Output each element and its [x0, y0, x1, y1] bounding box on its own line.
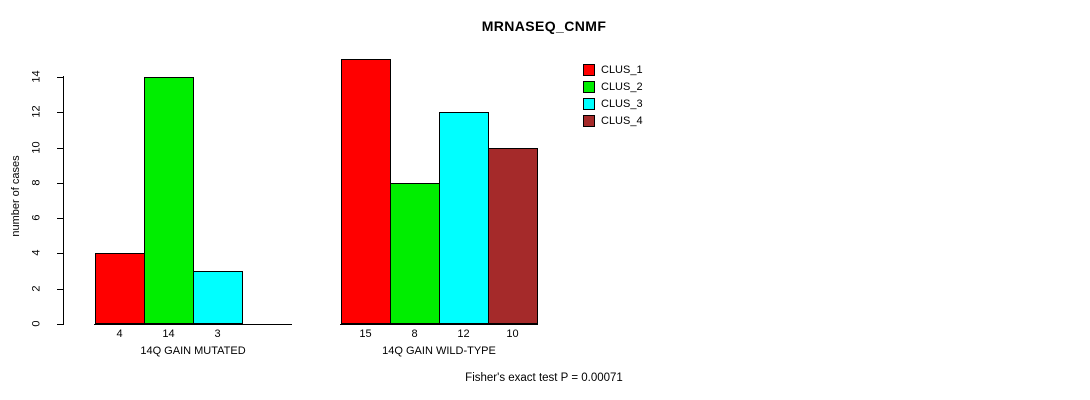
y-axis-tick-label: 8: [32, 165, 43, 199]
legend-color-swatch: [583, 98, 595, 110]
legend-item-label: CLUS_1: [601, 64, 643, 76]
legend-item[interactable]: CLUS_2: [583, 79, 643, 94]
legend-color-swatch: [583, 115, 595, 127]
statistical-test-annotation: Fisher's exact test P = 0.00071: [0, 371, 1090, 385]
legend-item[interactable]: CLUS_3: [583, 96, 643, 111]
y-axis-tick-label: 4: [32, 236, 43, 270]
legend-color-swatch: [583, 64, 595, 76]
legend-item-label: CLUS_3: [601, 98, 643, 110]
bar[interactable]: [439, 112, 489, 324]
chart-title: MRNASEQ_CNMF: [0, 18, 1090, 34]
bar-value-label: 12: [439, 328, 488, 340]
x-axis-baseline: [94, 324, 292, 325]
bar-value-label: 3: [193, 328, 242, 340]
y-axis-tick-mark: [57, 324, 63, 325]
x-axis-group-label: 14Q GAIN WILD-TYPE: [301, 345, 577, 358]
y-axis-tick-mark: [57, 112, 63, 113]
bar[interactable]: [193, 271, 243, 324]
legend-color-swatch: [583, 81, 595, 93]
barplot-figure: MRNASEQ_CNMF 02468101214 number of cases…: [0, 0, 1090, 400]
bar-value-label: 4: [95, 328, 144, 340]
y-axis-tick-label: 10: [32, 130, 43, 164]
y-axis-tick-label: 0: [32, 307, 43, 341]
legend-item[interactable]: CLUS_1: [583, 62, 643, 77]
bar-value-label: 15: [341, 328, 390, 340]
y-axis-tick-mark: [57, 253, 63, 254]
bar[interactable]: [390, 183, 440, 324]
bar[interactable]: [488, 148, 538, 324]
y-axis-tick-label: 14: [32, 60, 43, 94]
y-axis-tick-mark: [57, 289, 63, 290]
y-axis-tick-mark: [57, 183, 63, 184]
y-axis-tick-label: 12: [32, 95, 43, 129]
legend-item[interactable]: CLUS_4: [583, 113, 643, 128]
bar[interactable]: [95, 253, 145, 324]
y-axis-tick-label: 2: [32, 271, 43, 305]
y-axis-tick-label: 6: [32, 201, 43, 235]
x-axis-baseline: [340, 324, 538, 325]
bar-value-label: 8: [390, 328, 439, 340]
bar[interactable]: [144, 77, 194, 324]
y-axis-tick-mark: [57, 77, 63, 78]
statistical-test-text: Fisher's exact test P = 0.00071: [465, 371, 623, 385]
bar-value-label: 14: [144, 328, 193, 340]
bar-value-label: 10: [488, 328, 537, 340]
legend-item-label: CLUS_2: [601, 81, 643, 93]
legend: CLUS_1CLUS_2CLUS_3CLUS_4: [583, 62, 643, 130]
y-axis-tick-mark: [57, 218, 63, 219]
legend-item-label: CLUS_4: [601, 115, 643, 127]
chart-title-text: MRNASEQ_CNMF: [482, 18, 607, 34]
y-axis-line: [63, 76, 64, 325]
y-axis-tick-mark: [57, 148, 63, 149]
y-axis-title: number of cases: [10, 136, 22, 256]
x-axis-group-label: 14Q GAIN MUTATED: [55, 345, 331, 358]
bar[interactable]: [341, 59, 391, 324]
